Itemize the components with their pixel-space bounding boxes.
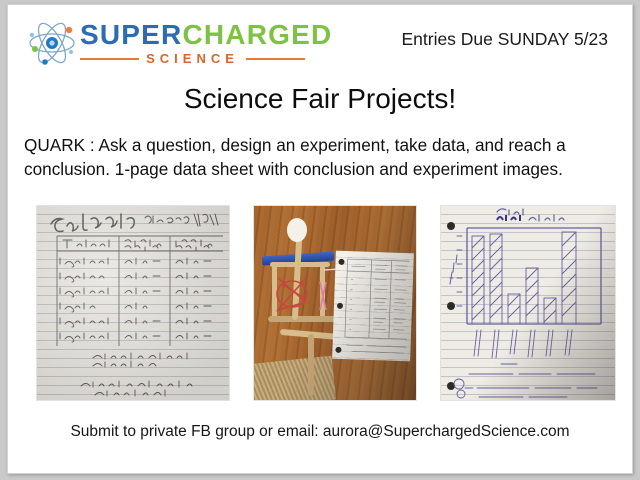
logo-subtitle-row: SCIENCE [80,51,305,66]
wordmark-super: SUPER [80,19,182,50]
logo-subtitle: SCIENCE [139,51,246,66]
logo-dash-left [80,58,139,60]
photo-handwritten-data-table[interactable] [36,205,230,401]
bar-graph-sketch [441,206,616,401]
data-sheet-writing [332,251,414,362]
photo-catapult-build[interactable] [253,205,417,401]
page-title: Science Fair Projects! [8,83,632,115]
slide-header: SUPERCHARGED SCIENCE Entries Due SUNDAY … [8,5,632,79]
atom-icon [26,17,78,69]
logo-dash-right [246,58,305,60]
photo-bar-graph[interactable] [440,205,616,401]
logo-wordmark-main: SUPERCHARGED [80,21,320,49]
entries-due-note: Entries Due SUNDAY 5/23 [401,29,608,50]
submit-instructions: Submit to private FB group or email: aur… [8,423,632,441]
supercharged-science-logo: SUPERCHARGED SCIENCE [18,13,318,73]
wordmark-charged: CHARGED [182,19,332,50]
logo-wordmark: SUPERCHARGED SCIENCE [80,21,320,66]
slide: SUPERCHARGED SCIENCE Entries Due SUNDAY … [7,4,633,474]
photo-strip [36,205,616,401]
slide-body-text: QUARK : Ask a question, design an experi… [24,133,620,182]
handwriting-table-sketch [37,206,230,401]
catapult-data-sheet [332,251,414,362]
